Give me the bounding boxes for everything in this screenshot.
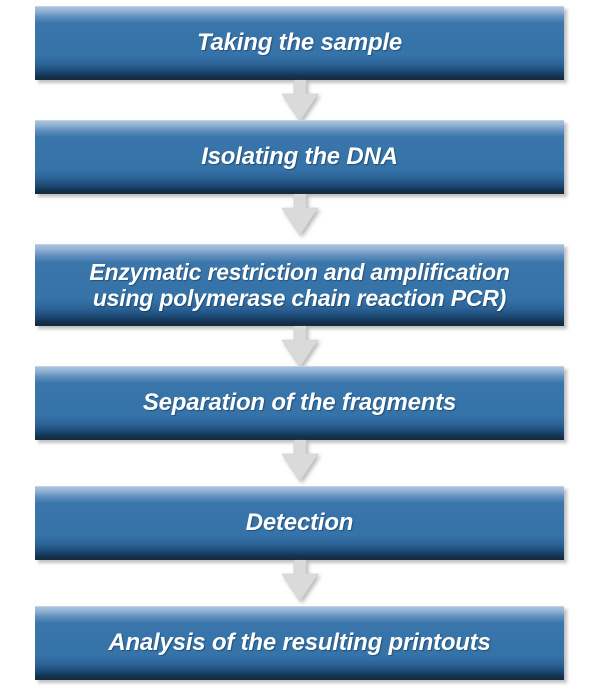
arrow-down-icon (281, 194, 319, 236)
connector-arrow-2 (281, 194, 319, 236)
arrow-down-icon (281, 80, 319, 122)
step-label: Analysis of the resulting printouts (98, 630, 500, 657)
arrow-down-icon (281, 326, 319, 368)
flowchart-step-3[interactable]: Enzymatic restriction and amplification … (35, 244, 564, 326)
flowchart-step-4[interactable]: Separation of the fragments (35, 366, 564, 440)
step-label: Taking the sample (187, 30, 412, 57)
flowchart-diagram: Taking the sample Isolating the DNA Enzy… (0, 0, 600, 689)
step-label: Isolating the DNA (191, 144, 408, 171)
step-label: Enzymatic restriction and amplification … (79, 260, 519, 312)
connector-arrow-1 (281, 80, 319, 122)
step-label: Separation of the fragments (133, 390, 466, 417)
flowchart-step-2[interactable]: Isolating the DNA (35, 120, 564, 194)
connector-arrow-3 (281, 326, 319, 368)
flowchart-step-6[interactable]: Analysis of the resulting printouts (35, 606, 564, 680)
flowchart-step-5[interactable]: Detection (35, 486, 564, 560)
arrow-down-icon (281, 440, 319, 482)
step-label: Detection (236, 510, 364, 537)
connector-arrow-5 (281, 560, 319, 602)
connector-arrow-4 (281, 440, 319, 482)
flowchart-step-1[interactable]: Taking the sample (35, 6, 564, 80)
arrow-down-icon (281, 560, 319, 602)
